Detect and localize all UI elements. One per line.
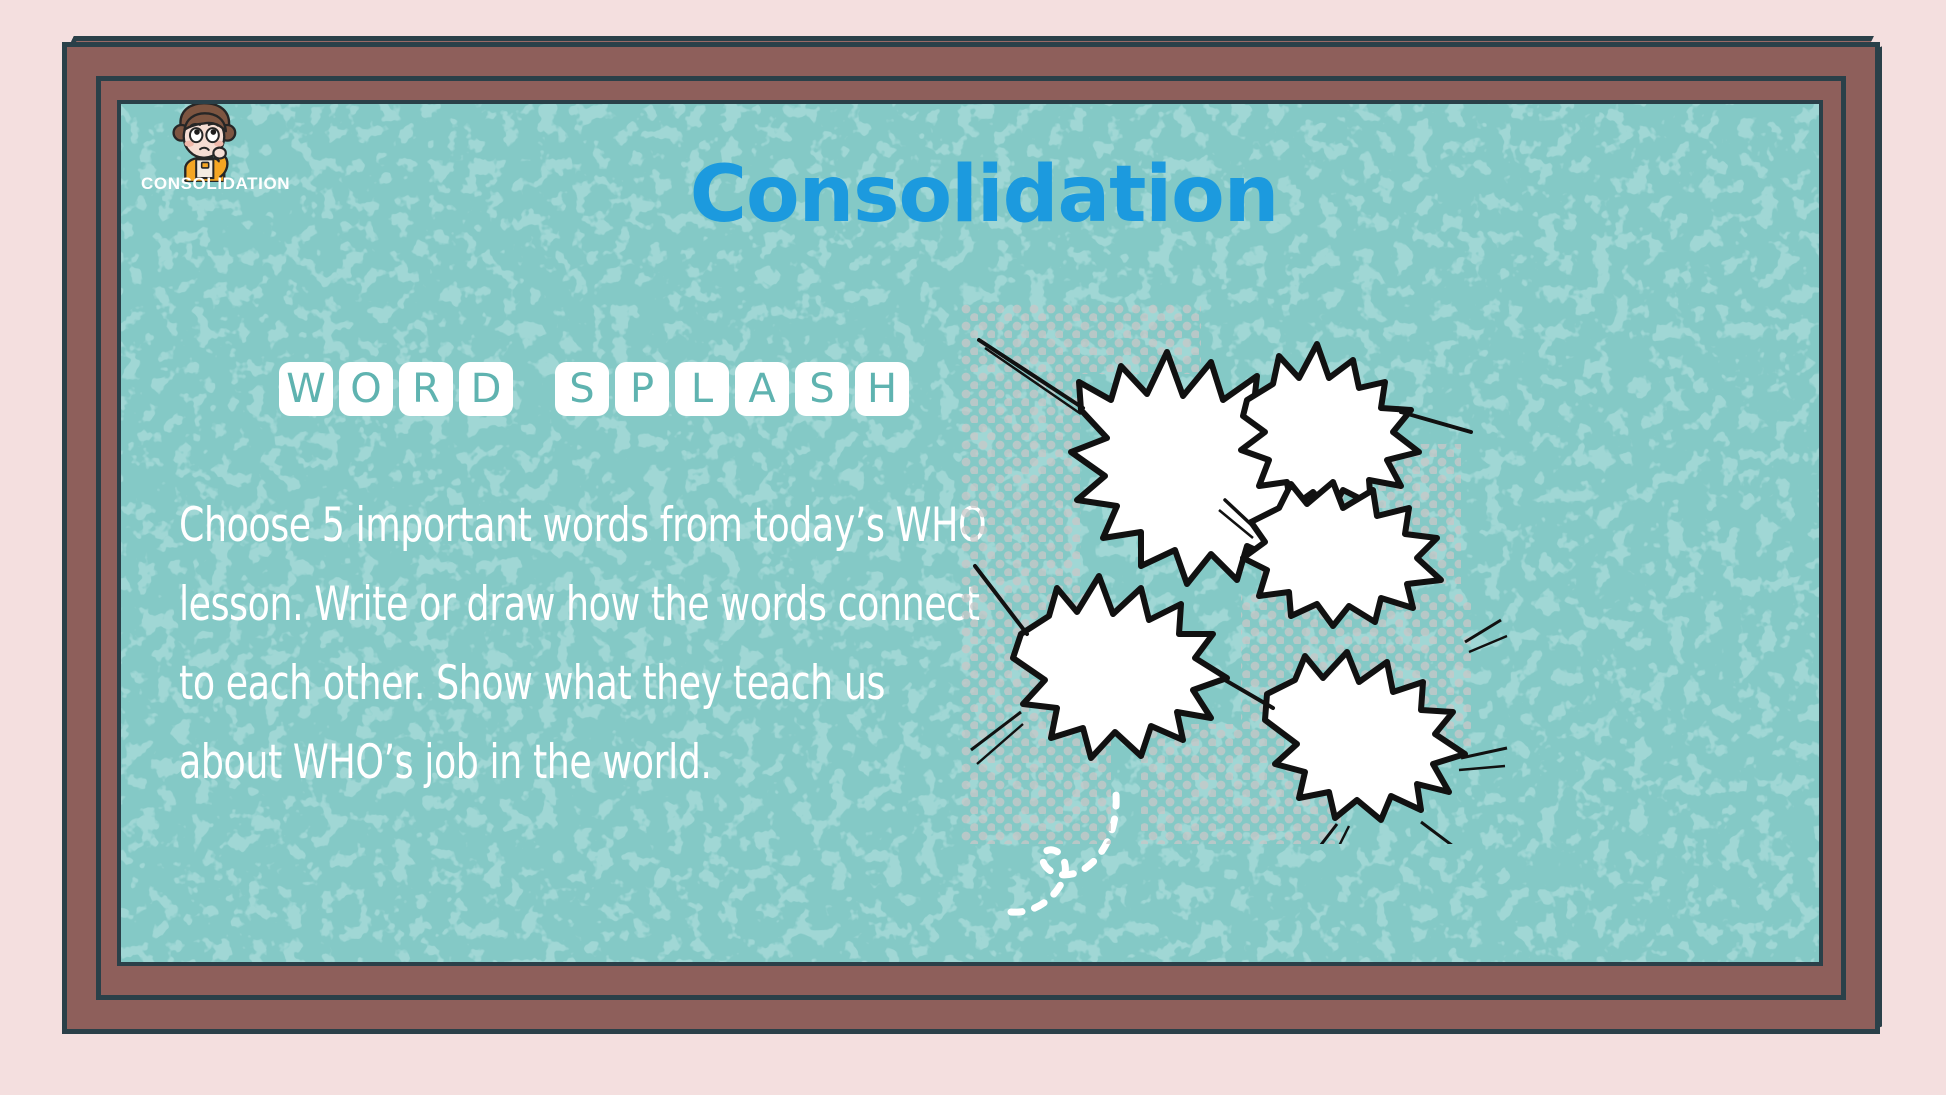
letter-tile: D bbox=[459, 362, 513, 416]
instruction-line: to each other. Show what they teach us bbox=[179, 644, 953, 723]
instruction-line: lesson. Write or draw how the words conn… bbox=[179, 565, 953, 644]
word-splash-heading: W O R D S P L A S H bbox=[279, 362, 909, 416]
comic-burst-cluster-icon bbox=[961, 304, 1521, 844]
letter-tile: O bbox=[339, 362, 393, 416]
slide-stage: CONSOLIDATION Consolidation W O R D S P … bbox=[0, 0, 1946, 1095]
letter-tile: L bbox=[675, 362, 729, 416]
letter-tile: W bbox=[279, 362, 333, 416]
letter-tile: R bbox=[399, 362, 453, 416]
letter-tile-space bbox=[519, 362, 549, 416]
letter-tile: S bbox=[555, 362, 609, 416]
letter-tile: A bbox=[735, 362, 789, 416]
instruction-text: Choose 5 important words from today’s WH… bbox=[179, 486, 953, 802]
instruction-line: about WHO’s job in the world. bbox=[179, 723, 953, 802]
letter-tile: S bbox=[795, 362, 849, 416]
instruction-line: Choose 5 important words from today’s WH… bbox=[179, 486, 953, 565]
page-title: Consolidation bbox=[121, 156, 1823, 234]
letter-tile: P bbox=[615, 362, 669, 416]
slide-board: CONSOLIDATION Consolidation W O R D S P … bbox=[117, 100, 1823, 966]
letter-tile: H bbox=[855, 362, 909, 416]
